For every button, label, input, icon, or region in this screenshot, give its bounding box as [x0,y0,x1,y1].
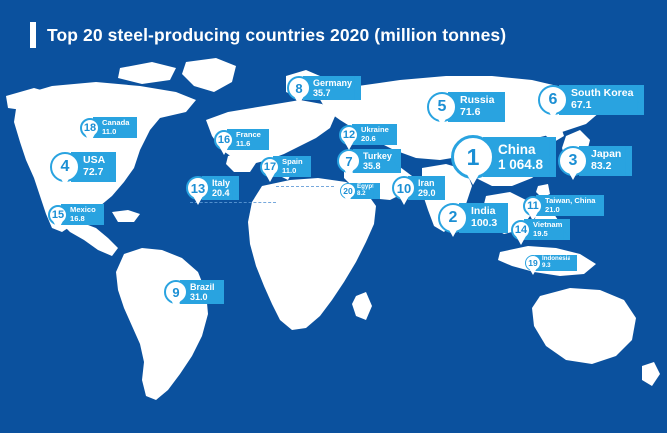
country-name: Turkey [363,151,392,161]
landmass-new-zealand [642,362,660,386]
country-value: 11.6 [236,140,261,149]
map-marker-russia[interactable]: 5Russia71.6 [427,92,505,122]
rank-badge: 8 [287,76,311,100]
landmass-greenland [182,58,236,92]
landmass-australia [532,288,636,364]
rank-badge: 7 [337,149,361,173]
country-label-flag: Taiwan, China21.0 [536,195,604,216]
infographic-map-page: Top 20 steel-producing countries 2020 (m… [0,0,667,433]
rank-badge: 18 [80,118,100,138]
map-marker-spain[interactable]: 17Spain11.0 [260,156,311,177]
rank-badge: 1 [451,135,495,179]
map-marker-vietnam[interactable]: 14Vietnam19.5 [511,219,570,240]
rank-badge: 10 [392,176,416,200]
country-label-flag: Germany35.7 [303,76,361,100]
map-marker-canada[interactable]: 18Canada11.0 [80,117,137,138]
landmass-central-america [62,222,118,256]
rank-badge: 13 [186,176,210,200]
map-marker-china[interactable]: 1China1 064.8 [451,135,556,179]
country-value: 11.0 [102,128,129,137]
rank-badge: 6 [538,85,568,115]
rank-badge: 11 [523,196,543,216]
country-value: 67.1 [571,100,633,112]
map-marker-indonesia[interactable]: 19Indonesia9.3 [525,255,577,271]
country-value: 21.0 [545,206,596,215]
country-value: 16.8 [70,215,96,224]
rank-badge: 5 [427,92,457,122]
rank-badge: 4 [50,152,80,182]
rank-badge: 12 [339,125,359,145]
country-name: China [498,142,543,157]
map-marker-mexico[interactable]: 15Mexico16.8 [48,204,104,225]
country-value: 9.3 [542,263,571,270]
rank-badge: 9 [164,280,188,304]
country-value: 71.6 [460,107,494,119]
rank-badge: 3 [558,146,588,176]
country-label-flag: Indonesia9.3 [535,255,577,271]
map-marker-south-korea[interactable]: 6South Korea67.1 [538,85,644,115]
country-label-flag: South Korea67.1 [559,85,644,115]
map-marker-taiwan-china[interactable]: 11Taiwan, China21.0 [523,195,604,216]
landmass-south-america [116,248,208,400]
country-value: 72.7 [83,167,105,179]
map-marker-brazil[interactable]: 9Brazil31.0 [164,280,224,304]
map-marker-india[interactable]: 2India100.3 [438,203,508,233]
country-value: 35.8 [363,161,392,171]
map-marker-usa[interactable]: 4USA72.7 [50,152,116,182]
country-value: 19.5 [533,230,562,239]
title-accent-bar [30,22,36,48]
rank-badge: 17 [260,157,280,177]
map-marker-egypt[interactable]: 20Egypt8.2 [340,183,380,199]
map-marker-ukraine[interactable]: 12Ukraine20.6 [339,124,397,145]
map-marker-japan[interactable]: 3Japan83.2 [558,146,632,176]
title-bar: Top 20 steel-producing countries 2020 (m… [30,22,506,48]
country-name: Germany [313,78,352,88]
country-value: 20.6 [361,135,389,144]
guide-line-right [276,186,334,187]
landmass-madagascar [352,292,372,320]
rank-badge: 20 [340,183,356,199]
country-value: 8.2 [357,191,374,198]
map-marker-germany[interactable]: 8Germany35.7 [287,76,361,100]
rank-badge: 19 [525,255,541,271]
country-value: 31.0 [190,292,215,302]
map-marker-iran[interactable]: 10Iran29.0 [392,176,445,200]
country-name: Italy [212,178,230,188]
map-marker-turkey[interactable]: 7Turkey35.8 [337,149,401,173]
country-value: 20.4 [212,188,230,198]
page-title: Top 20 steel-producing countries 2020 (m… [47,25,506,46]
map-marker-france[interactable]: 16France11.6 [214,129,269,150]
landmass-caribbean [112,210,140,222]
landmass-arctic-islands [118,62,176,84]
map-marker-italy[interactable]: 13Italy20.4 [186,176,239,200]
rank-badge: 2 [438,203,468,233]
country-value: 1 064.8 [498,157,543,172]
country-value: 100.3 [471,218,497,230]
country-value: 11.0 [282,167,303,176]
rank-badge: 15 [48,205,68,225]
rank-badge: 14 [511,220,531,240]
country-name: Iran [418,178,436,188]
country-value: 29.0 [418,188,436,198]
rank-badge: 16 [214,130,234,150]
country-value: 83.2 [591,161,621,173]
country-name: Brazil [190,282,215,292]
country-value: 35.7 [313,88,352,98]
